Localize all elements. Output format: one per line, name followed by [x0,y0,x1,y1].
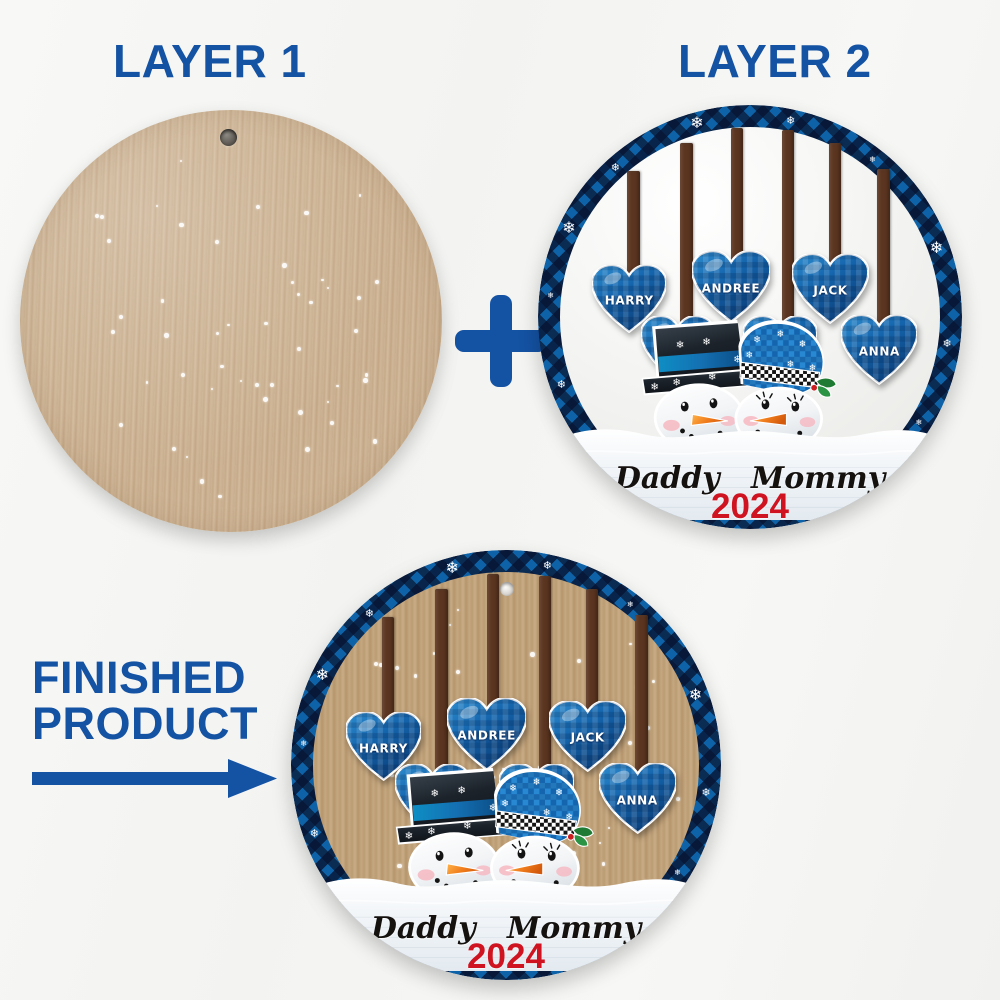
snow-bank: Daddy Mommy2024 [304,870,708,971]
svg-text:❄: ❄ [745,350,753,361]
layer2-ornament-disc: ❄❄❄❄❄❄❄❄❄❄❄❄❄❄ HARRYDORISANDREEMINAJACKA… [538,105,962,529]
svg-text:❄: ❄ [776,329,784,340]
arrow-right-icon [32,757,277,801]
svg-text:❄: ❄ [708,372,716,383]
svg-text:❄: ❄ [501,799,509,810]
svg-text:❄: ❄ [650,382,658,393]
layer2-title: LAYER 2 [678,38,872,85]
hanging-hole [220,129,237,146]
finished-product-disc: ❄❄❄❄❄❄❄❄❄❄❄❄❄❄ HARRYDORISANDREEMINAJACKA… [291,550,721,980]
snow-bank: Daddy Mommy2024 [551,421,949,521]
heart-charm: JACK [549,701,626,772]
heart-charm: ANDREE [692,251,770,323]
heart-charm: JACK [792,254,868,324]
svg-text:❄: ❄ [463,821,471,832]
svg-text:❄: ❄ [555,787,563,798]
svg-text:❄: ❄ [799,339,807,350]
svg-text:❄: ❄ [702,337,710,348]
svg-text:❄: ❄ [509,783,517,794]
svg-text:❄: ❄ [458,786,466,797]
svg-text:❄: ❄ [431,788,439,799]
svg-text:❄: ❄ [533,777,541,788]
ribbon-strap [635,615,648,785]
svg-text:❄: ❄ [405,831,413,842]
svg-text:❄: ❄ [676,340,684,351]
finished-title-line2: PRODUCT [32,701,258,747]
finished-product-title: FINISHED PRODUCT [32,655,258,747]
year-label: 2024 [304,937,708,971]
mockup-canvas: LAYER 1 LAYER 2 FINISHED PRODUCT ❄❄❄❄❄❄❄… [0,0,1000,1000]
ribbon-strap [877,169,889,337]
year-label: 2024 [551,487,949,521]
finished-title-line1: FINISHED [32,655,258,701]
svg-text:❄: ❄ [753,334,761,345]
heart-charm: ANDREE [447,698,527,771]
plus-icon [455,295,547,387]
wood-speckles [20,110,442,532]
layer1-title: LAYER 1 [113,38,307,85]
layer1-wood-disc [20,110,442,532]
